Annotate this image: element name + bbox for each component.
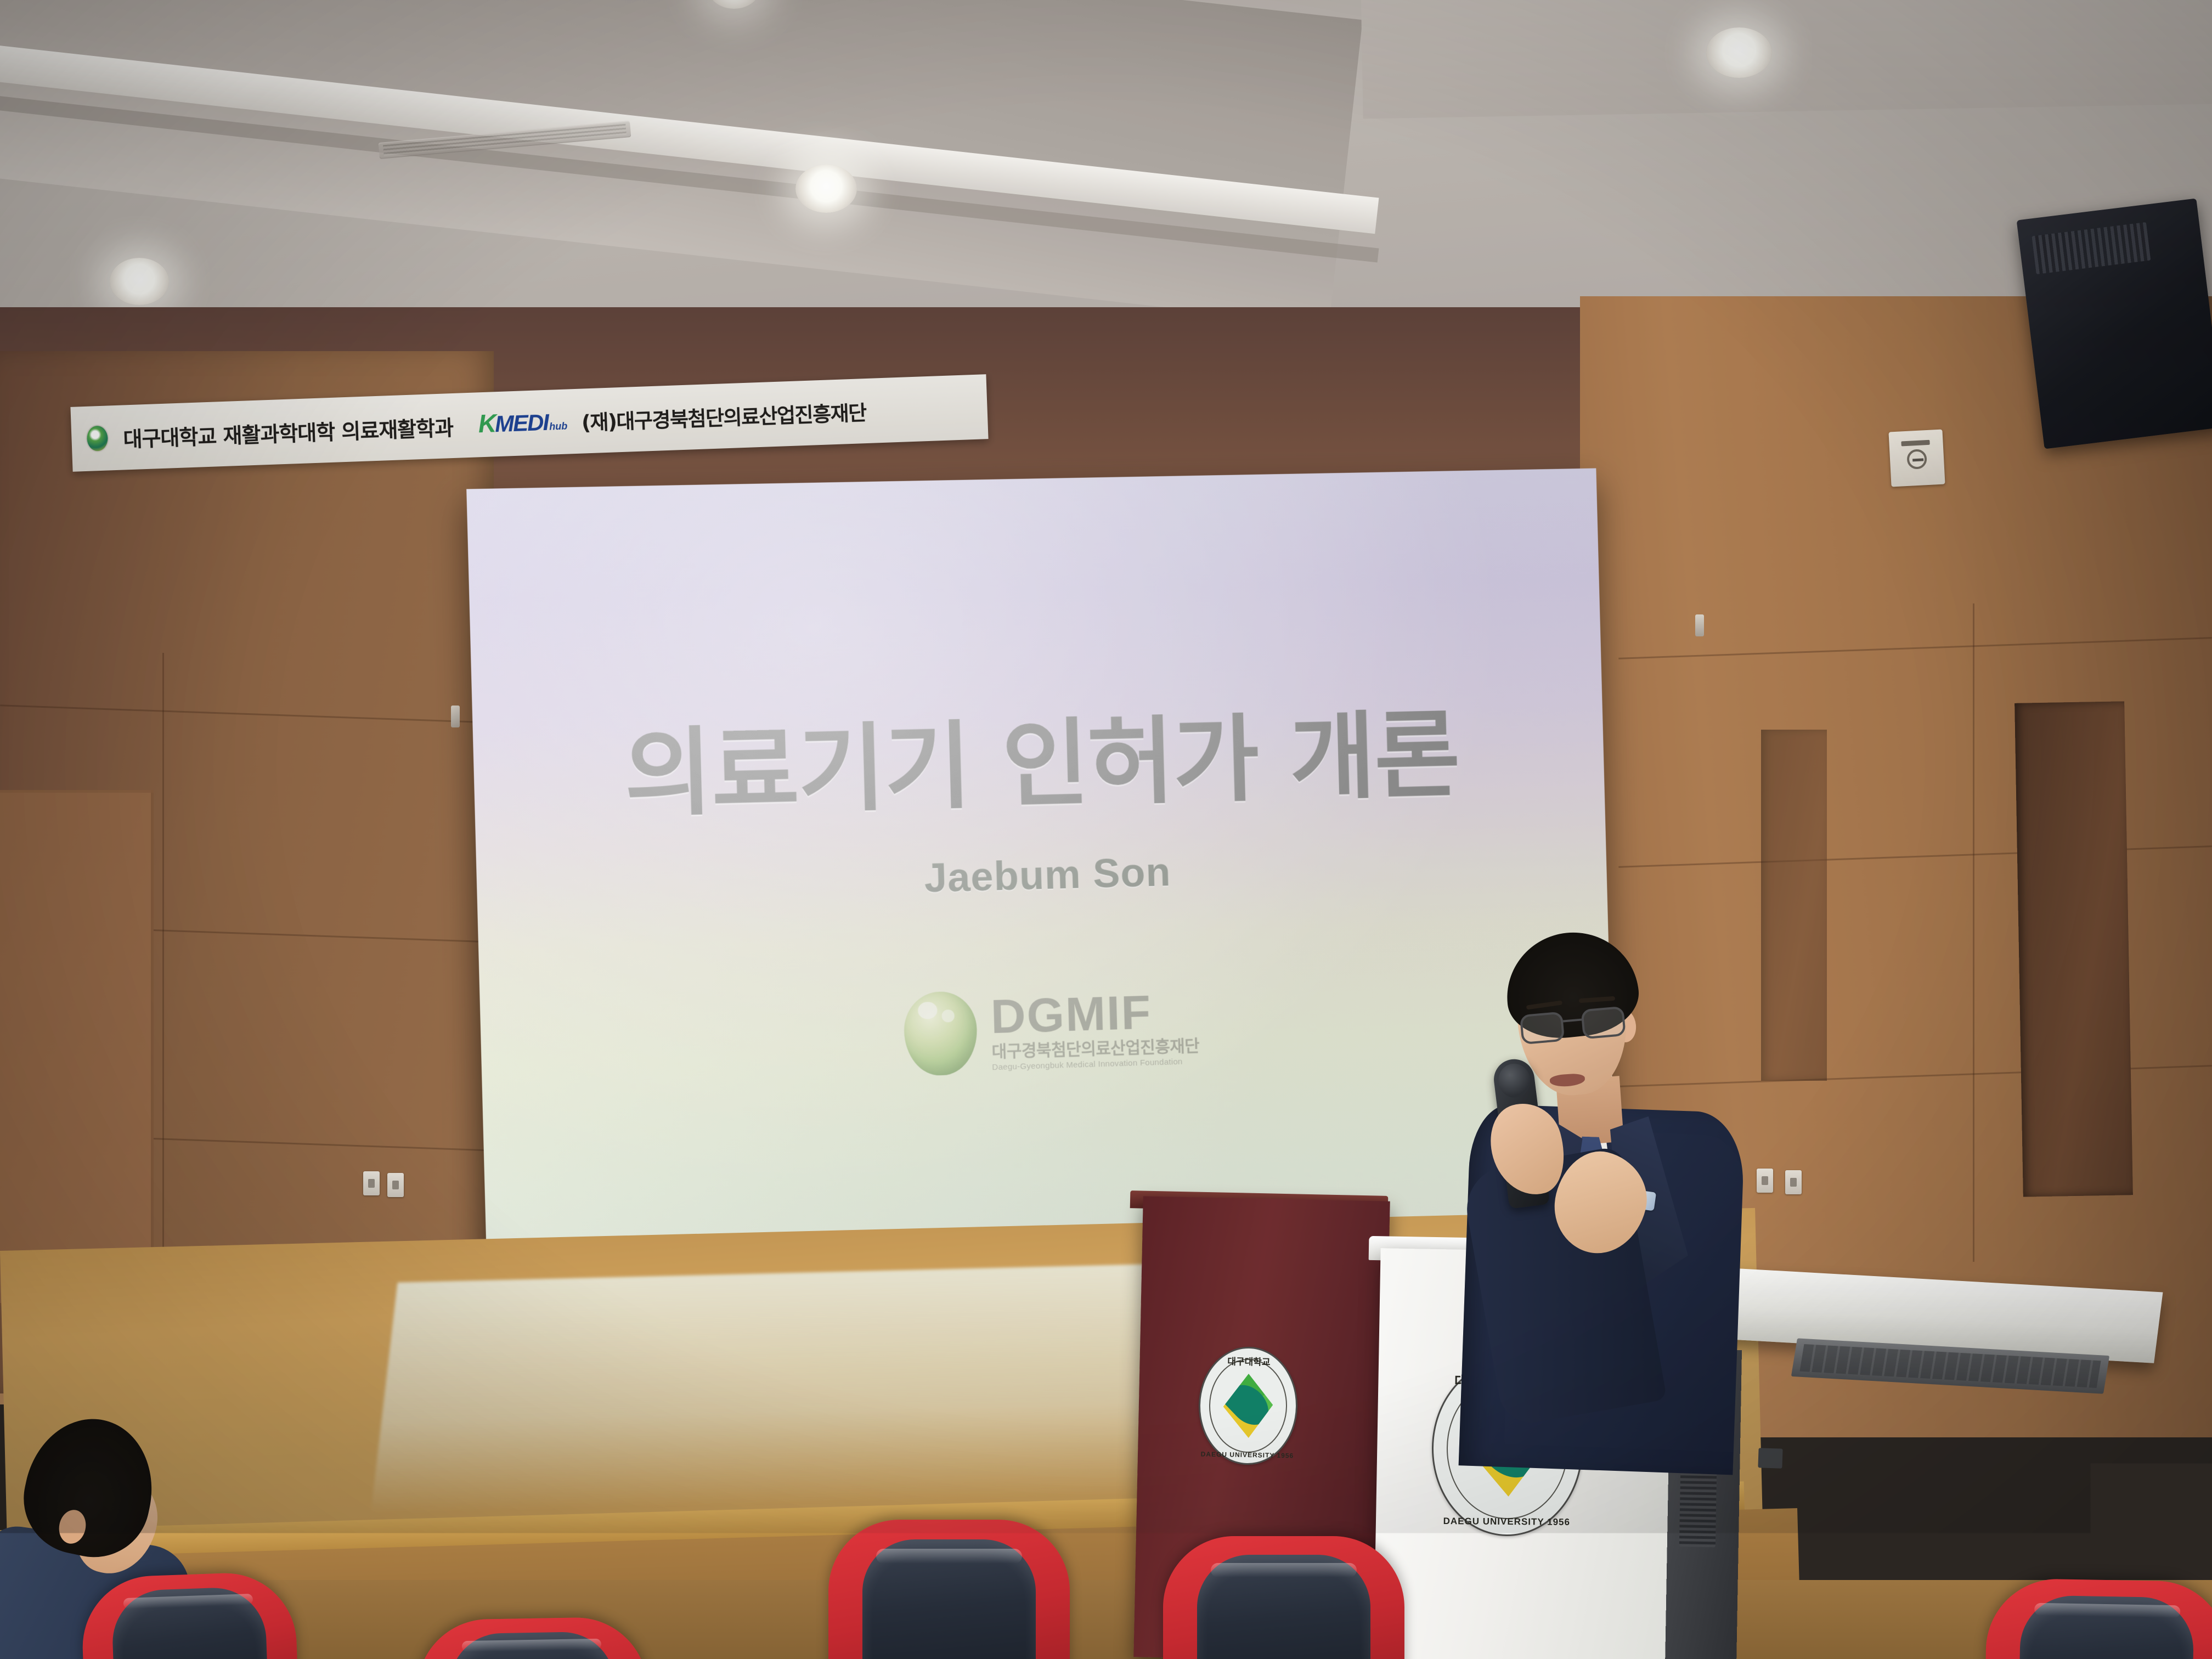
- chair-backrest-pad: [2018, 1595, 2194, 1659]
- eyeglass-lens-left: [1520, 1012, 1565, 1045]
- emblem-english-text: DAEGU UNIVERSITY 1956: [1199, 1450, 1295, 1459]
- downlight-2: [795, 165, 857, 213]
- kmedi-medi-text: MEDI: [494, 409, 549, 437]
- ceiling-recess-panel: [0, 0, 1363, 325]
- auditorium-scene: 의료기기 인허가 개론 Jaebum Son DGMIF 대구경북첨단의료산업진…: [0, 0, 2212, 1659]
- house-floor: [0, 1580, 2212, 1659]
- eyeglass-lens-right: [1581, 1006, 1626, 1040]
- banner-left-org-name: 대구대학교 재활과학대학 의료재활학과: [122, 410, 453, 452]
- speaker-grille: [2032, 222, 2151, 274]
- ceiling-soffit-right: [1358, 0, 2212, 119]
- chair-audience-left[interactable]: [80, 1571, 298, 1659]
- dgmif-logo: DGMIF 대구경북첨단의료산업진흥재단 Daegu-Gyeongbuk Med…: [903, 984, 1200, 1076]
- chair-front-far-right[interactable]: [1553, 1569, 1799, 1659]
- chair-backrest-pad: [862, 1539, 1036, 1659]
- chair-front-center[interactable]: [828, 1520, 1070, 1659]
- kmedi-hub-logo: K MEDI hub: [478, 409, 568, 438]
- slide-author: Jaebum Son: [476, 837, 1607, 913]
- power-outlet[interactable]: [1785, 1170, 1802, 1194]
- emblem-korean-text: 대구대학교: [1201, 1353, 1296, 1369]
- chair-front-edge-right[interactable]: [1985, 1578, 2212, 1659]
- chair-front-left[interactable]: [416, 1616, 648, 1659]
- projected-slide: 의료기기 인허가 개론 Jaebum Son DGMIF 대구경북첨단의료산업진…: [466, 468, 1616, 1288]
- kmedi-k-letter: K: [478, 412, 495, 435]
- wall-emergency-light: [1695, 614, 1704, 636]
- chair-front-right[interactable]: [1163, 1536, 1404, 1659]
- stage-floor-reflection: [371, 1262, 1220, 1514]
- chair-backrest-pad: [111, 1587, 269, 1659]
- projection-screen: 의료기기 인허가 개론 Jaebum Son DGMIF 대구경북첨단의료산업진…: [466, 468, 1616, 1288]
- downlight-3: [1706, 27, 1772, 78]
- right-wall-door-recess[interactable]: [2015, 701, 2133, 1197]
- chair-backrest-pad: [1587, 1585, 1765, 1659]
- right-wall-door-recess-2[interactable]: [1761, 730, 1827, 1081]
- power-outlet[interactable]: [1757, 1169, 1773, 1193]
- downlight-1: [110, 258, 169, 305]
- emblem-english-text: DAEGU UNIVERSITY 1956: [1433, 1516, 1581, 1528]
- podium-connector-port[interactable]: [1758, 1448, 1782, 1469]
- wall-emergency-light: [451, 706, 460, 727]
- slide-title: 의료기기 인허가 개론: [472, 674, 1605, 838]
- power-outlet[interactable]: [363, 1171, 380, 1195]
- left-wall-panel-door[interactable]: [0, 790, 154, 1306]
- kmedi-hub-text: hub: [549, 421, 568, 433]
- power-outlet[interactable]: [387, 1173, 404, 1197]
- control-panel-slot: [1901, 440, 1929, 447]
- dgmif-orb-icon: [903, 991, 978, 1076]
- wall-seam: [162, 653, 164, 1300]
- wall-loudspeaker: [2017, 198, 2212, 449]
- dgmif-wordmark: DGMIF: [990, 986, 1199, 1041]
- banner-right-org-name: (재)대구경북첨단의료산업진흥재단: [581, 396, 867, 436]
- wall-seam: [1973, 603, 1974, 1262]
- chair-backrest-pad: [1197, 1555, 1371, 1659]
- wall-control-panel[interactable]: [1888, 430, 1945, 487]
- daegu-university-emblem-icon: [86, 424, 110, 452]
- control-panel-knob[interactable]: [1906, 449, 1927, 470]
- eyeglass-bridge: [1563, 1019, 1582, 1023]
